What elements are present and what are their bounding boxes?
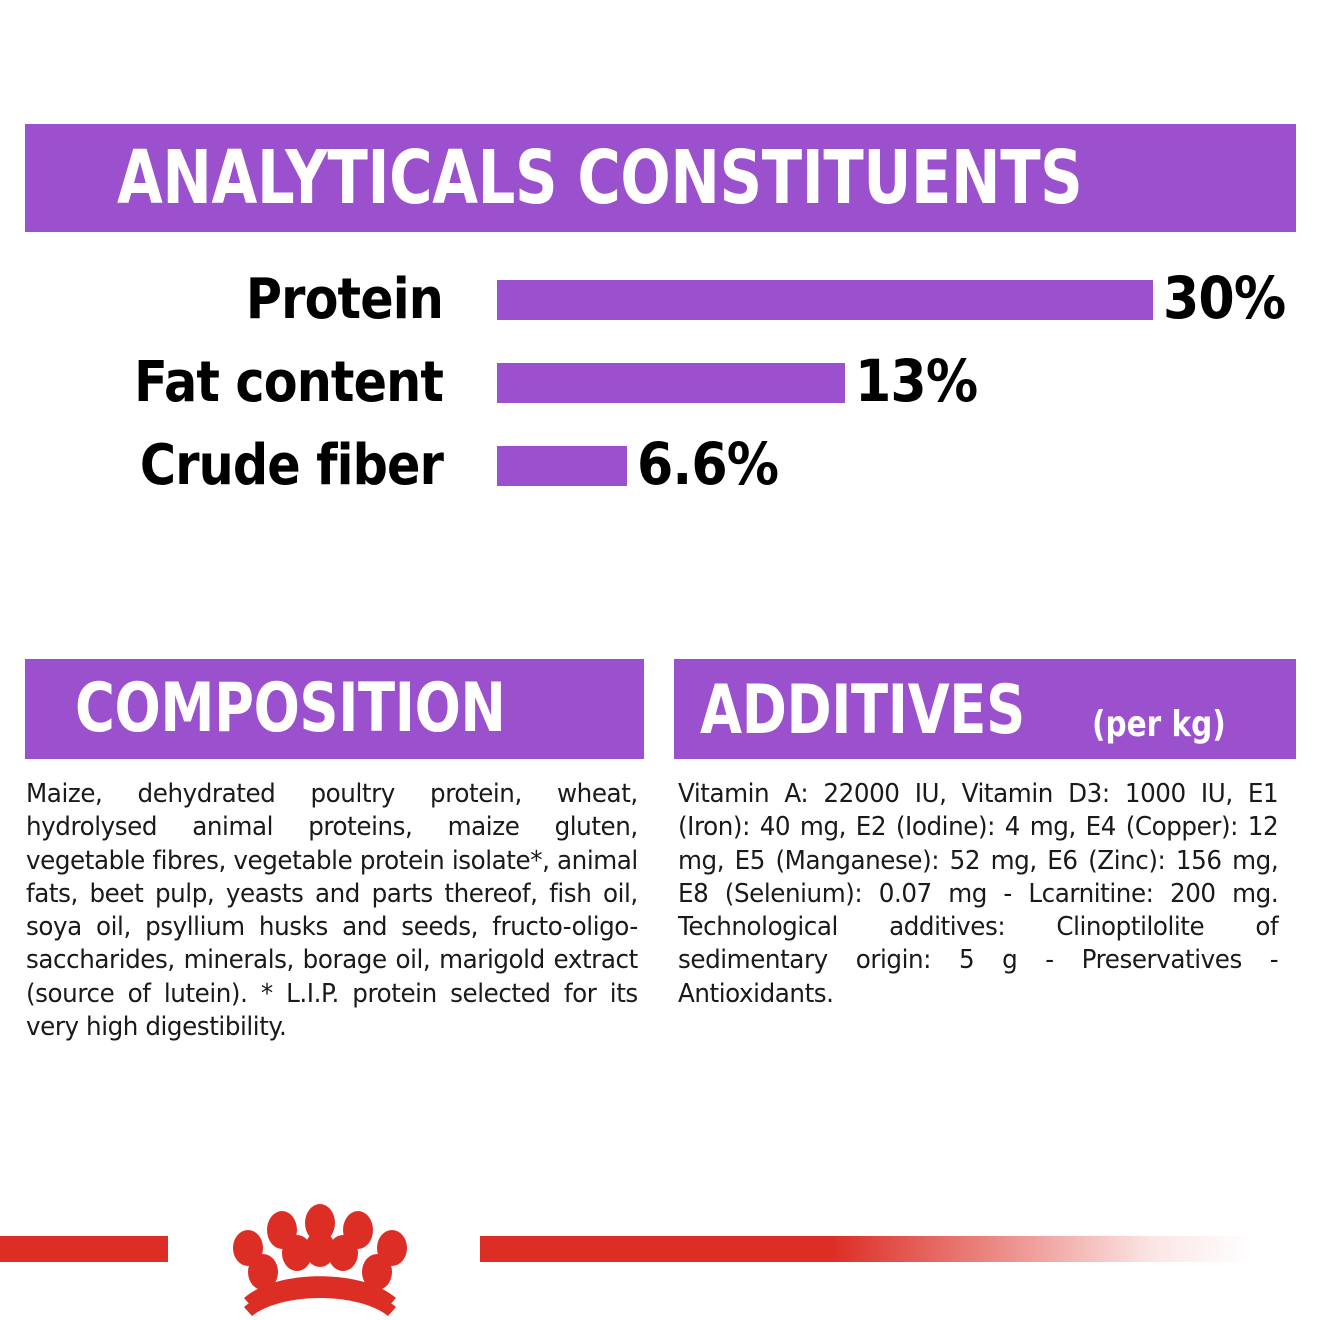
- analyticals-bar-chart: Protein 30% Fat content 13% Crude fiber …: [0, 262, 1320, 512]
- footer-rule-right: [480, 1236, 1320, 1262]
- royal-canin-crown-icon: [182, 1197, 458, 1320]
- bar-value-protein: 30%: [1163, 278, 1285, 318]
- bar-value-crude-fiber: 6.6%: [637, 444, 778, 484]
- chart-row: Protein 30%: [0, 280, 1320, 320]
- additives-subtitle: (per kg): [1092, 707, 1226, 759]
- composition-title: COMPOSITION: [75, 675, 506, 743]
- bar-value-fat-content: 13%: [855, 361, 977, 401]
- bar-protein: [497, 280, 1153, 320]
- additives-body-text: Vitamin A: 22000 IU, Vitamin D3: 1000 IU…: [678, 778, 1278, 1011]
- bar-fat-content: [497, 363, 845, 403]
- additives-header-banner: ADDITIVES (per kg): [674, 659, 1296, 759]
- analyticals-header-banner: ANALYTICALS CONSTITUENTS: [25, 124, 1296, 232]
- chart-row: Fat content 13%: [0, 363, 1320, 403]
- composition-header-banner: COMPOSITION: [25, 659, 644, 759]
- additives-title: ADDITIVES: [700, 677, 1025, 759]
- footer: [0, 1236, 1320, 1320]
- footer-rule-left: [0, 1236, 168, 1262]
- analyticals-title: ANALYTICALS CONSTITUENTS: [117, 141, 1082, 215]
- bar-label-fat-content: Fat content: [53, 363, 443, 403]
- composition-body-text: Maize, dehydrated poultry protein, wheat…: [26, 778, 638, 1044]
- bar-label-protein: Protein: [53, 280, 443, 320]
- bar-crude-fiber: [497, 446, 627, 486]
- bar-label-crude-fiber: Crude fiber: [53, 446, 443, 486]
- chart-row: Crude fiber 6.6%: [0, 446, 1320, 486]
- product-info-panel: ANALYTICALS CONSTITUENTS Protein 30% Fat…: [0, 0, 1320, 1320]
